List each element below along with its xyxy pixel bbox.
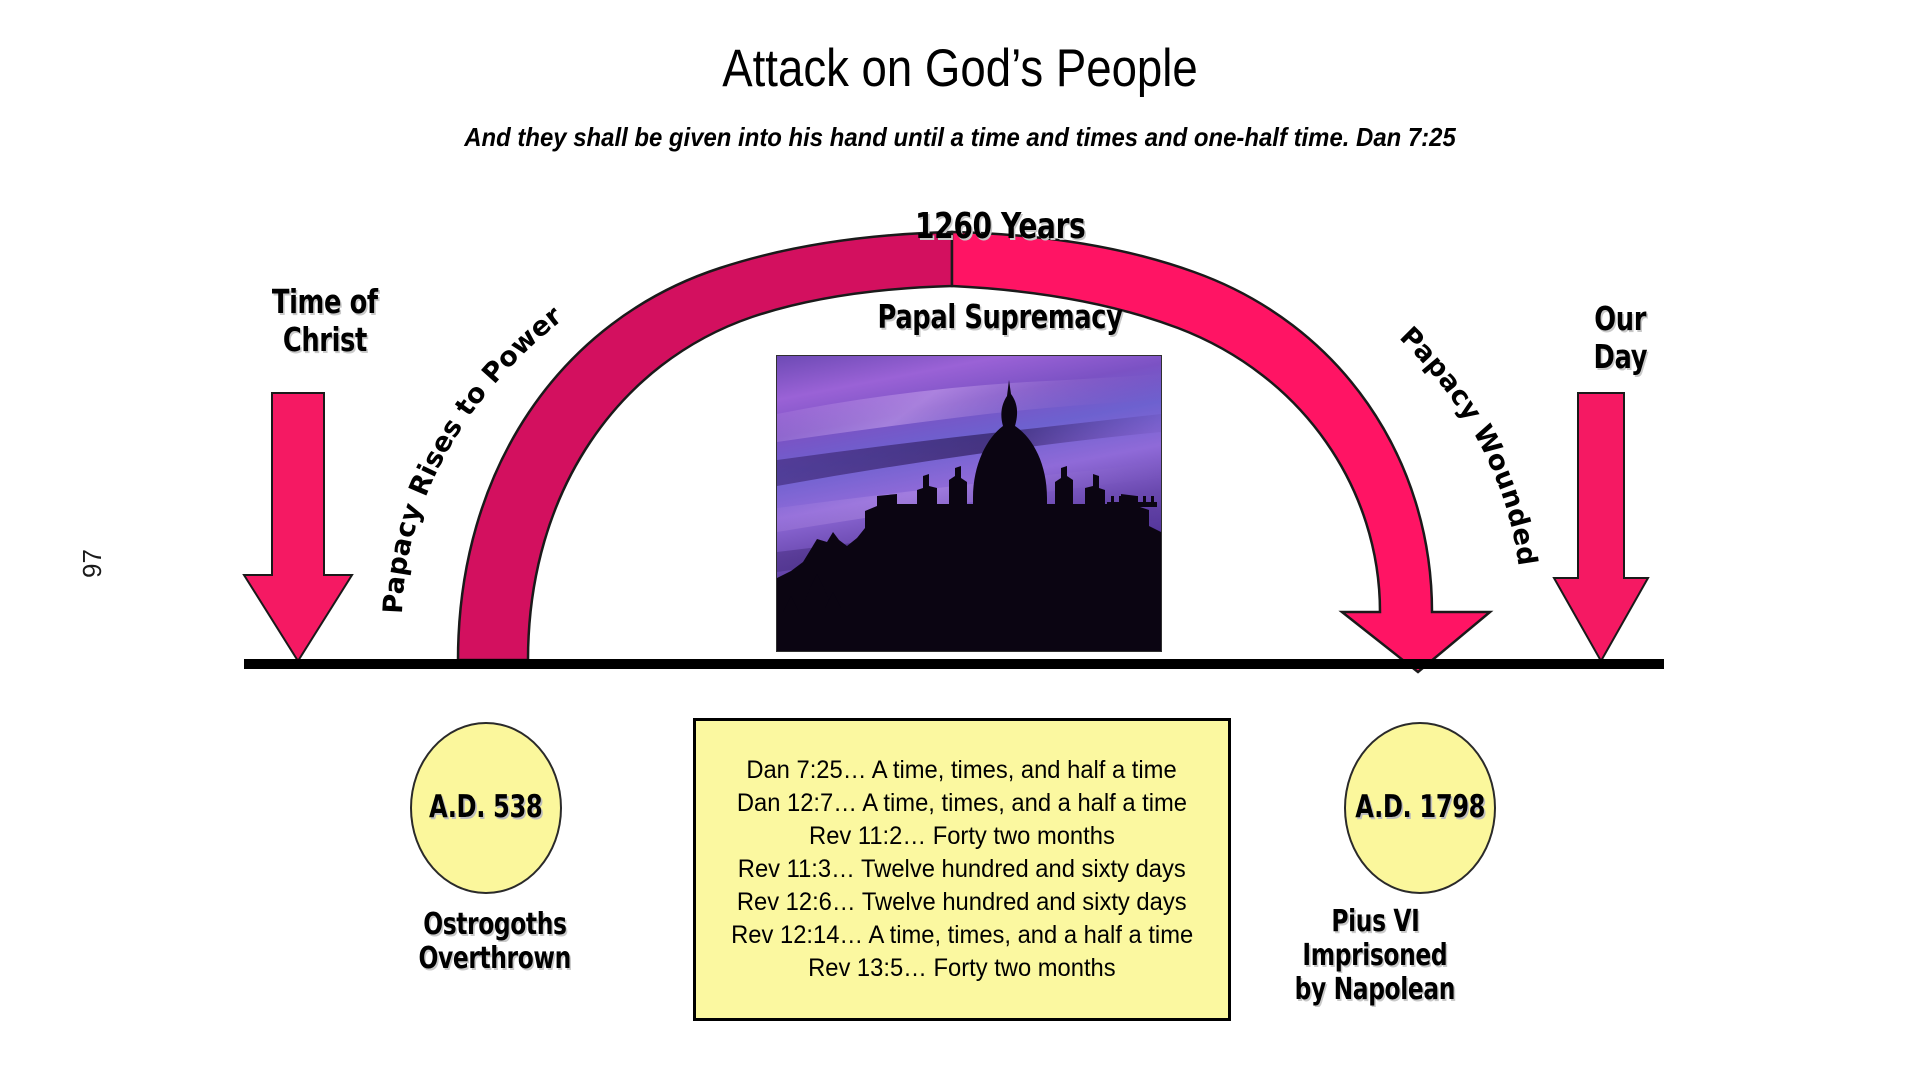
- verse-line: Rev 11:3… Twelve hundred and sixty days: [738, 853, 1186, 886]
- verse-line: Dan 12:7… A time, times, and a half a ti…: [737, 787, 1187, 820]
- st-peters-basilica-silhouette-photo: [776, 355, 1162, 652]
- time-of-christ-arrow: [244, 393, 352, 661]
- our-day-arrow: [1554, 393, 1648, 661]
- event-date-1798: A.D. 1798: [1355, 791, 1485, 824]
- verse-line: Rev 12:6… Twelve hundred and sixty days: [737, 886, 1187, 919]
- event-caption-1798-line2: Imprisoned: [1303, 940, 1448, 972]
- timeline-baseline: [244, 659, 1664, 669]
- event-circle-538: A.D. 538: [410, 722, 562, 894]
- marker-label-time-of-christ: Time of Christ: [210, 283, 440, 359]
- era-label-text: Papal Supremacy: [878, 299, 1123, 334]
- slide-canvas: Attack on God’s People And they shall be…: [0, 0, 1920, 1080]
- time-of-christ-line1: Time of: [272, 284, 378, 319]
- event-circle-1798: A.D. 1798: [1344, 722, 1496, 894]
- verse-line: Dan 7:25… A time, times, and half a time: [747, 754, 1177, 787]
- our-day-line1: Our: [1594, 301, 1646, 336]
- event-caption-538-line1: Ostrogoths: [423, 909, 566, 941]
- event-caption-1798: Pius VI Imprisoned by Napolean: [1205, 905, 1545, 1007]
- event-caption-1798-line3: by Napolean: [1295, 974, 1455, 1006]
- verse-line: Rev 12:14… A time, times, and a half a t…: [731, 919, 1193, 952]
- event-caption-538-line2: Overthrown: [419, 943, 571, 975]
- verse-line: Rev 11:2… Forty two months: [809, 820, 1115, 853]
- event-caption-1798-line1: Pius VI: [1331, 906, 1419, 938]
- time-of-christ-line2: Christ: [283, 322, 367, 357]
- verse-line: Rev 13:5… Forty two months: [808, 952, 1116, 985]
- span-label-text: 1260 Years: [915, 208, 1085, 247]
- marker-label-our-day: Our Day: [1520, 300, 1720, 376]
- verse-reference-box: Dan 7:25… A time, times, and half a time…: [693, 718, 1231, 1021]
- era-label-papal-supremacy: Papal Supremacy: [790, 298, 1210, 336]
- span-label-1260-years: 1260 Years: [830, 205, 1170, 247]
- our-day-line2: Day: [1593, 339, 1647, 374]
- event-caption-538: Ostrogoths Overthrown: [325, 908, 665, 976]
- event-date-538: A.D. 538: [429, 791, 542, 824]
